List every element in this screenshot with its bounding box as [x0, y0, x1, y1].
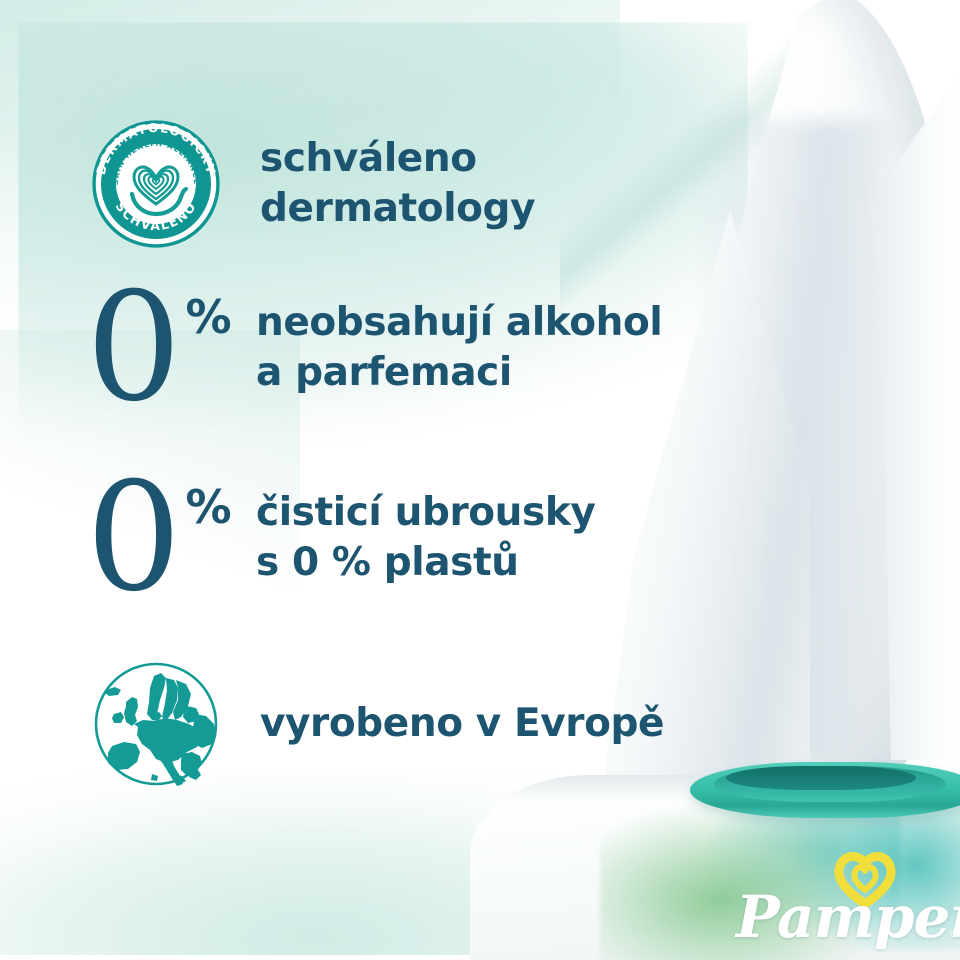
zero-percent-mark: 0 %: [86, 288, 232, 408]
dermatologically-approved-badge: DERMATOLOGICKY SKIN HEALTH ALLIANCE SCHV…: [90, 118, 222, 250]
claim-row-dermatology: DERMATOLOGICKY SKIN HEALTH ALLIANCE SCHV…: [90, 118, 535, 250]
registered-mark: ®: [949, 927, 960, 940]
pampers-logo: Pampers ®: [736, 848, 958, 954]
claim-mark: 0 %: [86, 478, 256, 598]
claim-row-no-alcohol: 0 % neobsahují alkohol a parfemaci: [86, 288, 662, 408]
claim-mark: 0 %: [86, 288, 256, 408]
claim-mark: [90, 658, 260, 790]
europe-map-icon: [90, 658, 222, 790]
zero-numeral: 0: [86, 288, 181, 408]
pack-lid-opening: [726, 766, 916, 790]
claim-mark: DERMATOLOGICKY SKIN HEALTH ALLIANCE SCHV…: [90, 118, 260, 250]
claim-row-zero-plastic: 0 % čisticí ubrousky s 0 % plastů: [86, 478, 595, 598]
svg-text:®: ®: [194, 187, 200, 194]
percent-sign: %: [185, 294, 231, 340]
claim-row-made-in-europe: vyrobeno v Evropě: [90, 658, 664, 790]
claim-text-made-in-europe: vyrobeno v Evropě: [260, 699, 664, 749]
zero-percent-mark: 0 %: [86, 478, 232, 598]
claim-text-zero-plastic: čisticí ubrousky s 0 % plastů: [256, 488, 595, 588]
zero-numeral: 0: [86, 478, 181, 598]
percent-sign: %: [185, 484, 231, 530]
pampers-wordmark: Pampers: [736, 888, 960, 946]
claim-text-no-alcohol: neobsahují alkohol a parfemaci: [256, 298, 662, 398]
product-claims-image: Pampers ® DERMATOLOGICKY: [0, 0, 960, 960]
claim-text-dermatology: schváleno dermatology: [260, 134, 535, 234]
